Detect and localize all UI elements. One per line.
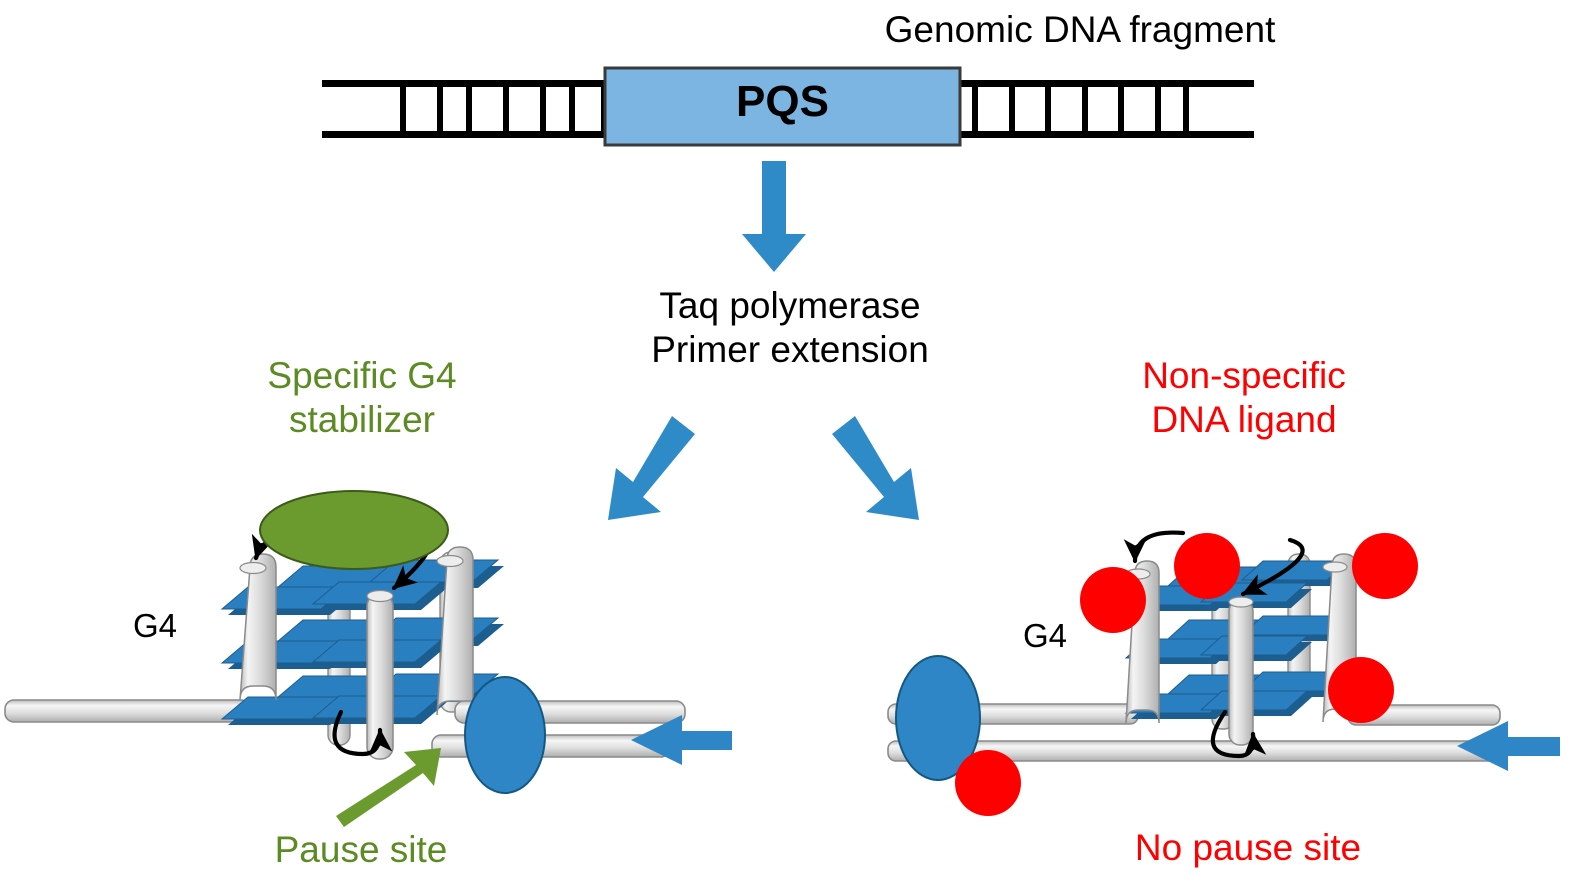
ligand-circle: [1174, 533, 1240, 599]
left-template-strand: [5, 700, 250, 722]
ligand-circle: [955, 750, 1021, 816]
right-branch-label-line2: DNA ligand: [1094, 400, 1394, 440]
right-g4-label: G4: [1000, 618, 1090, 654]
right-branch-label-line1: Non-specific: [1094, 356, 1394, 396]
left-g4-label: G4: [110, 608, 200, 644]
enzyme-label-line2: Primer extension: [594, 330, 986, 370]
right-panel-group: [888, 533, 1560, 816]
figure-title: Genomic DNA fragment: [800, 10, 1360, 50]
left-branch-label-line2: stabilizer: [222, 400, 502, 440]
enzyme-label-line1: Taq polymerase: [594, 286, 986, 326]
down-arrow-icon: [742, 161, 806, 272]
right-primer-direction-arrow-icon: [1457, 721, 1560, 771]
ligand-circle: [1328, 657, 1394, 723]
diagonal-down-right-arrow-icon: [832, 416, 919, 520]
diagram-svg: [0, 0, 1580, 884]
ligand-circle: [1352, 533, 1418, 599]
diagonal-down-left-arrow-icon: [608, 416, 695, 520]
pause-site-pointer-arrow-icon: [336, 748, 441, 827]
right-outcome-label: No pause site: [1098, 828, 1398, 868]
left-polymerase-ellipse: [465, 677, 545, 793]
dna-left-segment: [322, 80, 612, 138]
figure-canvas: Genomic DNA fragment PQS Taq polymerase …: [0, 0, 1580, 884]
dna-right-segment: [956, 80, 1254, 138]
specific-g4-stabilizer-ellipse: [260, 491, 448, 569]
left-panel-group: [5, 491, 732, 827]
left-outcome-label: Pause site: [216, 830, 506, 870]
left-branch-label-line1: Specific G4: [222, 356, 502, 396]
pqs-label: PQS: [605, 78, 960, 126]
